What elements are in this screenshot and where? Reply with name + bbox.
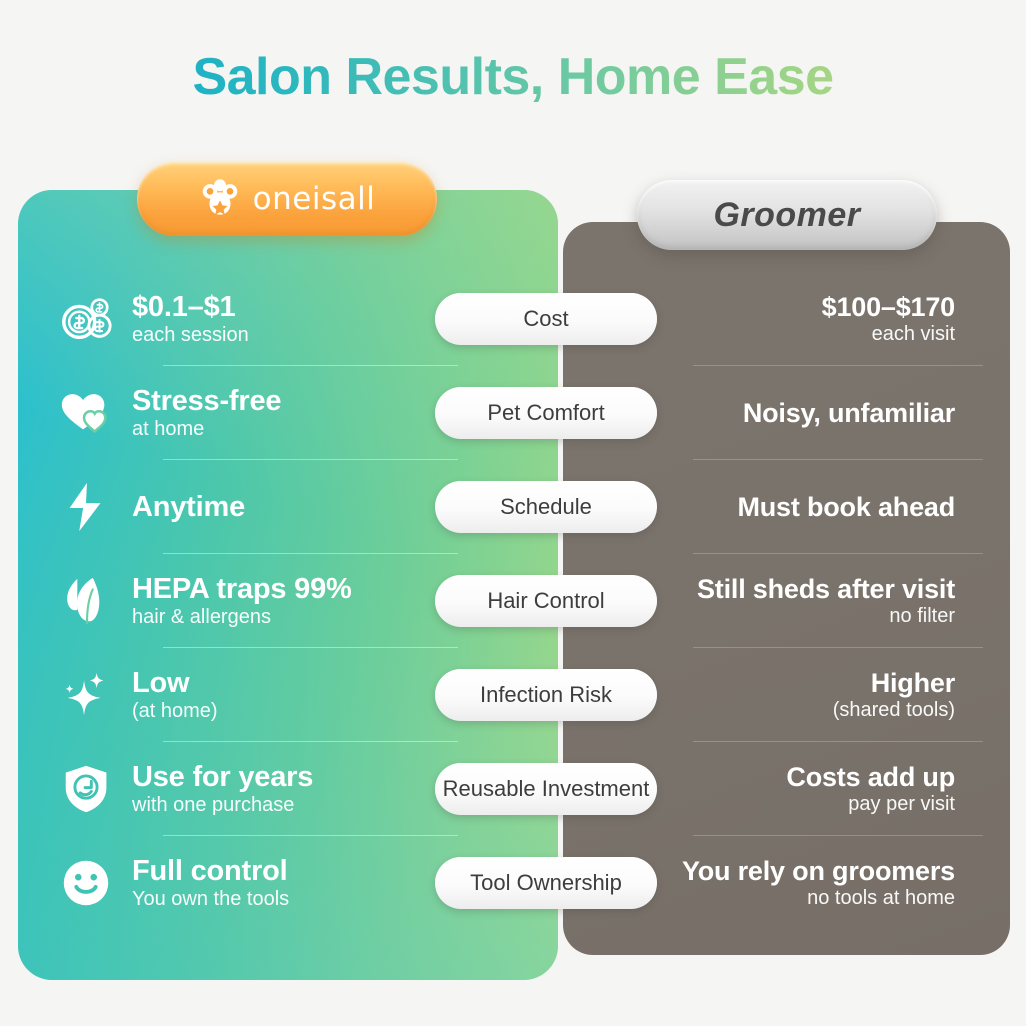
value-sub: each visit <box>872 324 955 345</box>
value-main: Still sheds after visit <box>697 575 955 603</box>
comparison-row: Use for years with one purchase Reusable… <box>0 742 1026 836</box>
category-label-cell: Reusable Investment <box>435 763 657 815</box>
value-main: $0.1–$1 <box>132 292 249 322</box>
comparison-row: Stress-free at home Pet Comfort Noisy, u… <box>0 366 1026 460</box>
category-label-cell: Schedule <box>435 481 657 533</box>
oneisall-cell: $0.1–$1 each session <box>58 291 458 347</box>
value-main: Low <box>132 668 218 698</box>
value-sub: (at home) <box>132 701 218 722</box>
value-main: Higher <box>871 669 955 697</box>
oneisall-cell: Stress-free at home <box>58 385 458 441</box>
comparison-row: HEPA traps 99% hair & allergens Hair Con… <box>0 554 1026 648</box>
value-sub: You own the tools <box>132 889 289 910</box>
value-main: Anytime <box>132 492 245 522</box>
groomer-cell: Costs add up pay per visit <box>640 763 955 815</box>
sparkles-icon <box>58 667 114 723</box>
category-pill[interactable]: Pet Comfort <box>435 387 657 439</box>
value-sub: at home <box>132 419 281 440</box>
comparison-row: Anytime Schedule Must book ahead <box>0 460 1026 554</box>
value-sub: each session <box>132 325 249 346</box>
oneisall-text: Anytime <box>132 492 245 522</box>
value-main: Must book ahead <box>737 493 955 521</box>
oneisall-paw-logo-icon <box>199 179 241 219</box>
value-main: Noisy, unfamiliar <box>743 399 955 427</box>
value-main: Costs add up <box>786 763 955 791</box>
groomer-cell: Higher (shared tools) <box>640 669 955 721</box>
groomer-brand-name: Groomer <box>713 196 860 235</box>
comparison-row: Low (at home) Infection Risk Higher (sha… <box>0 648 1026 742</box>
value-sub: with one purchase <box>132 795 313 816</box>
oneisall-cell: Anytime <box>58 479 458 535</box>
comparison-row: $0.1–$1 each session Cost $100–$170 each… <box>0 272 1026 366</box>
value-sub: pay per visit <box>848 794 955 815</box>
comparison-rows: $0.1–$1 each session Cost $100–$170 each… <box>0 272 1026 930</box>
category-pill[interactable]: Cost <box>435 293 657 345</box>
shield-refresh-icon <box>58 761 114 817</box>
groomer-cell: Noisy, unfamiliar <box>640 399 955 427</box>
oneisall-brand-pill: oneisall <box>137 162 437 236</box>
category-pill[interactable]: Tool Ownership <box>435 857 657 909</box>
category-label-cell: Infection Risk <box>435 669 657 721</box>
category-label-cell: Tool Ownership <box>435 857 657 909</box>
oneisall-text: $0.1–$1 each session <box>132 292 249 346</box>
category-pill[interactable]: Hair Control <box>435 575 657 627</box>
oneisall-text: Stress-free at home <box>132 386 281 440</box>
oneisall-brand-name: oneisall <box>253 181 376 217</box>
infographic-canvas: Salon Results, Home Ease oneisall Groome… <box>0 0 1026 1026</box>
category-pill[interactable]: Reusable Investment <box>435 763 657 815</box>
groomer-cell: Still sheds after visit no filter <box>640 575 955 627</box>
category-pill[interactable]: Infection Risk <box>435 669 657 721</box>
groomer-brand-pill: Groomer <box>637 180 937 250</box>
oneisall-cell: Low (at home) <box>58 667 458 723</box>
value-sub: no tools at home <box>807 888 955 909</box>
groomer-cell: $100–$170 each visit <box>640 293 955 345</box>
category-label-cell: Pet Comfort <box>435 387 657 439</box>
oneisall-text: Full control You own the tools <box>132 856 289 910</box>
category-label-cell: Hair Control <box>435 575 657 627</box>
oneisall-text: Use for years with one purchase <box>132 762 313 816</box>
value-sub: hair & allergens <box>132 607 352 628</box>
value-main: Stress-free <box>132 386 281 416</box>
oneisall-cell: HEPA traps 99% hair & allergens <box>58 573 458 629</box>
groomer-cell: Must book ahead <box>640 493 955 521</box>
groomer-cell: You rely on groomers no tools at home <box>640 857 955 909</box>
oneisall-cell: Use for years with one purchase <box>58 761 458 817</box>
smiley-face-icon <box>58 855 114 911</box>
coins-icon <box>58 291 114 347</box>
value-main: HEPA traps 99% <box>132 574 352 604</box>
category-label-cell: Cost <box>435 293 657 345</box>
value-main: Full control <box>132 856 289 886</box>
oneisall-cell: Full control You own the tools <box>58 855 458 911</box>
value-main: Use for years <box>132 762 313 792</box>
leaves-icon <box>58 573 114 629</box>
lightning-bolt-icon <box>58 479 114 535</box>
value-sub: (shared tools) <box>833 700 955 721</box>
category-pill[interactable]: Schedule <box>435 481 657 533</box>
value-main: $100–$170 <box>822 293 955 321</box>
value-main: You rely on groomers <box>682 857 955 885</box>
comparison-row: Full control You own the tools Tool Owne… <box>0 836 1026 930</box>
value-sub: no filter <box>889 606 955 627</box>
hearts-icon <box>58 385 114 441</box>
oneisall-text: Low (at home) <box>132 668 218 722</box>
page-title: Salon Results, Home Ease <box>0 48 1026 108</box>
oneisall-text: HEPA traps 99% hair & allergens <box>132 574 352 628</box>
